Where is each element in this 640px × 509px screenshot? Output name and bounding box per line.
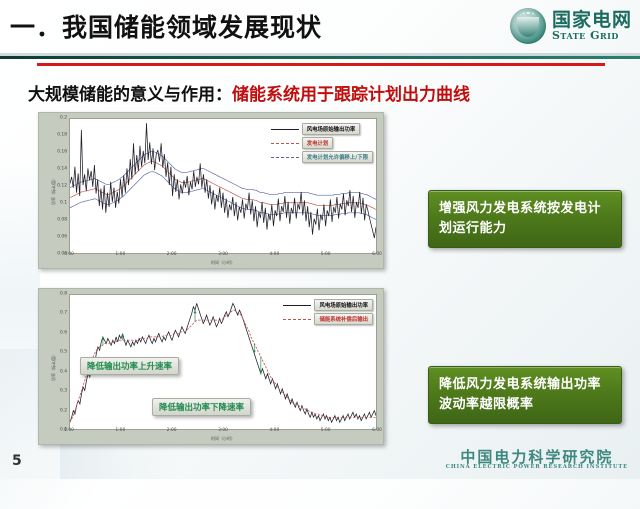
- chart2-x-tick: 2:00: [167, 428, 177, 433]
- header-rule-green: [0, 56, 640, 59]
- state-grid-logo-text: 国家电网 State Grid: [552, 11, 632, 41]
- chart1-x-axis-label: 时间（小时）: [211, 260, 235, 266]
- state-grid-emblem-icon: [510, 8, 546, 44]
- callout-box-1: 增强风力发电系统按发电计划运行能力: [428, 190, 622, 248]
- chart1-x-tick: 6:00: [372, 252, 382, 257]
- chart2-y-axis: 功率（标幺值） 0.80.70.60.50.40.30.20.1: [39, 289, 69, 444]
- footer-organization-logo: 中国电力科学研究院 CHINA ELECTRIC POWER RESEARCH …: [446, 449, 628, 471]
- chart2-x-axis: 时间（小时） 0:001:002:003:004:005:006:00: [69, 428, 377, 440]
- chart1-y-tick: 0.12: [57, 184, 67, 189]
- chart1-x-tick: 2:00: [167, 252, 177, 257]
- chart1-x-axis: 时间（小时） 0:001:002:003:004:005:006:00: [69, 252, 377, 264]
- chart1-y-tick: 0.16: [57, 150, 67, 155]
- annotation-ramp-up: 降低输出功率上升速率: [80, 357, 179, 375]
- state-grid-logo: 国家电网 State Grid: [510, 8, 632, 44]
- section-subtitle: 大规模储能的意义与作用：储能系统用于跟踪计划出力曲线: [28, 80, 470, 105]
- chart2-x-tick: 3:00: [218, 428, 228, 433]
- slide: 一．我国储能领域发展现状 国家电网 State Grid 大规模储能的意义与作用…: [0, 0, 640, 479]
- subtitle-black-part: 大规模储能的意义与作用：: [28, 85, 232, 105]
- header-rule-red: [37, 63, 605, 66]
- chart2-x-axis-label: 时间（小时）: [211, 436, 235, 442]
- chart1-x-tick: 4:00: [269, 252, 279, 257]
- chart1-x-tick: 0:00: [64, 252, 74, 257]
- chart2-legend-label-0: 风电场原始输出功率: [314, 299, 373, 311]
- decorative-shape-3: [0, 150, 40, 450]
- chart2-y-tick: 0.6: [60, 330, 67, 335]
- subtitle-red-part: 储能系统用于跟踪计划出力曲线: [232, 85, 470, 105]
- annotation-ramp-down: 降低输出功率下降速率: [152, 398, 251, 416]
- page-number: 5: [12, 453, 22, 469]
- state-grid-logo-en: State Grid: [552, 30, 632, 41]
- chart2-x-tick: 6:00: [372, 428, 382, 433]
- chart1-x-tick: 1:00: [115, 252, 125, 257]
- footer-org-cn: 中国电力科学研究院: [446, 449, 628, 466]
- chart1-legend-swatch-0: [271, 129, 299, 130]
- chart1-legend-swatch-2: [271, 157, 299, 158]
- chart-wind-power-plan-tracking: 功率（标幺值） 0.20.180.160.140.120.10.080.060.…: [38, 112, 384, 269]
- chart1-legend-label-0: 风电场原始输出功率: [302, 123, 361, 135]
- chart1-legend: 风电场原始输出功率 发电计划 发电计划允许偏移上/下限: [271, 123, 373, 163]
- page-title: 一．我国储能领域发展现状: [10, 8, 322, 44]
- chart2-y-tick: 0.4: [60, 369, 67, 374]
- footer-org-en: CHINA ELECTRIC POWER RESEARCH INSTITUTE: [446, 465, 628, 471]
- chart2-y-axis-label: 功率（标幺值）: [51, 353, 57, 381]
- chart1-legend-label-1: 发电计划: [302, 137, 334, 149]
- chart1-y-tick: 0.14: [57, 167, 67, 172]
- chart1-x-tick: 5:00: [321, 252, 331, 257]
- chart1-y-tick: 0.06: [57, 235, 67, 240]
- chart2-y-tick: 0.8: [60, 292, 67, 297]
- chart2-x-tick: 1:00: [115, 428, 125, 433]
- callout-box-2: 降低风力发电系统输出功率波动率越限概率: [428, 366, 622, 424]
- chart2-x-tick: 5:00: [321, 428, 331, 433]
- chart1-legend-swatch-1: [271, 143, 299, 144]
- chart2-y-tick: 0.7: [60, 311, 67, 316]
- chart2-y-tick: 0.3: [60, 389, 67, 394]
- chart2-x-tick: 4:00: [269, 428, 279, 433]
- chart2-y-tick: 0.2: [60, 408, 67, 413]
- chart1-legend-label-2: 发电计划允许偏移上/下限: [302, 151, 373, 163]
- chart1-x-tick: 3:00: [218, 252, 228, 257]
- chart1-legend-item-0: 风电场原始输出功率: [271, 123, 373, 135]
- chart1-y-tick: 0.1: [60, 201, 67, 206]
- chart1-legend-item-2: 发电计划允许偏移上/下限: [271, 151, 373, 163]
- chart2-legend-swatch-1: [283, 319, 311, 320]
- chart2-legend-item-1: 储能系统补偿后输出: [283, 313, 373, 325]
- chart2-x-tick: 0:00: [64, 428, 74, 433]
- chart2-legend: 风电场原始输出功率 储能系统补偿后输出: [283, 299, 373, 325]
- chart2-legend-label-1: 储能系统补偿后输出: [314, 313, 373, 325]
- chart2-y-tick: 0.5: [60, 350, 67, 355]
- chart1-y-tick: 0.08: [57, 218, 67, 223]
- chart1-y-axis: 功率（标幺值） 0.20.180.160.140.120.10.080.060.…: [39, 113, 69, 268]
- chart1-y-tick: 0.18: [57, 133, 67, 138]
- chart2-legend-swatch-0: [283, 305, 311, 306]
- chart1-legend-item-1: 发电计划: [271, 137, 373, 149]
- chart1-y-axis-label: 功率（标幺值）: [51, 177, 57, 205]
- state-grid-logo-cn: 国家电网: [552, 11, 632, 30]
- chart2-legend-item-0: 风电场原始输出功率: [283, 299, 373, 311]
- chart1-y-tick: 0.2: [60, 116, 67, 121]
